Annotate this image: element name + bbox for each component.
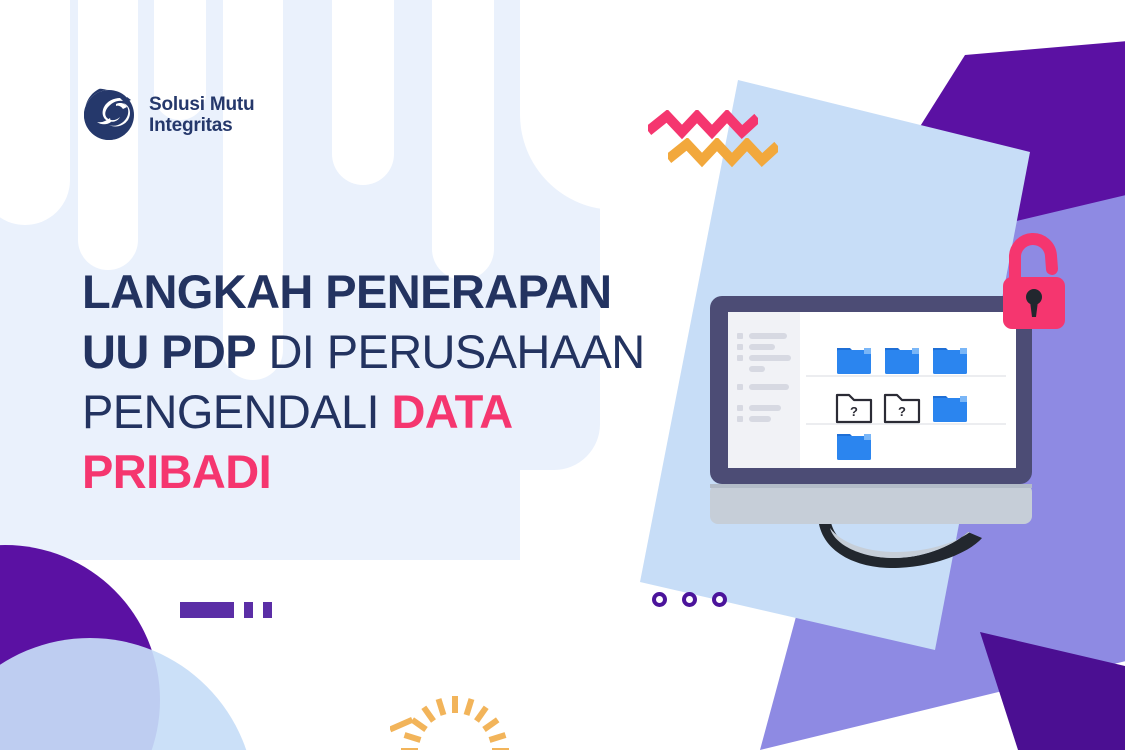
folder-unknown-icon[interactable]: ? xyxy=(837,395,871,422)
dot-ring-icon xyxy=(712,592,727,607)
drip-pill-3 xyxy=(332,0,394,185)
folder-icon[interactable] xyxy=(837,434,871,460)
headline-line-2-light: DI PERUSAHAAN xyxy=(256,325,645,378)
dot-ring-icon xyxy=(682,592,697,607)
folder-icon[interactable] xyxy=(933,396,967,422)
headline-line-3: PENGENDALI DATA xyxy=(82,382,722,442)
headline-line-3-pink: DATA xyxy=(391,385,512,438)
monitor-base xyxy=(710,484,1032,524)
drip-pill-4 xyxy=(432,0,494,280)
folder-icon[interactable] xyxy=(885,348,919,374)
folder-icon[interactable] xyxy=(933,348,967,374)
dot-ring-icon xyxy=(652,592,667,607)
brand-name: Solusi Mutu Integritas xyxy=(149,94,254,137)
open-padlock-icon xyxy=(995,225,1073,335)
headline-line-1: LANGKAH PENERAPAN xyxy=(82,262,722,322)
solusi-mutu-logo-icon xyxy=(82,88,136,142)
dash-decoration xyxy=(180,602,272,618)
folder-unknown-icon[interactable]: ? xyxy=(885,395,919,422)
sunburst-decoration xyxy=(390,686,520,750)
dash-small xyxy=(244,602,253,618)
brand-name-line-1: Solusi Mutu xyxy=(149,94,254,115)
headline-line-4: PRIBADI xyxy=(82,442,722,502)
poster-canvas: ? ? xyxy=(0,0,1125,750)
svg-text:?: ? xyxy=(850,404,858,419)
headline-line-4-pink: PRIBADI xyxy=(82,445,271,498)
monitor-base-edge xyxy=(710,484,1032,488)
brand-logo[interactable]: Solusi Mutu Integritas xyxy=(82,88,254,142)
svg-text:?: ? xyxy=(898,404,906,419)
brand-name-line-2: Integritas xyxy=(149,115,254,136)
page-title: LANGKAH PENERAPAN UU PDP DI PERUSAHAAN P… xyxy=(82,262,722,502)
three-dots-decoration xyxy=(652,592,727,607)
headline-line-2-bold: UU PDP xyxy=(82,325,256,378)
dash-small xyxy=(263,602,272,618)
headline-line-3-light: PENGENDALI xyxy=(82,385,391,438)
blue-circle-decoration xyxy=(0,638,255,750)
dash-long xyxy=(180,602,234,618)
zigzag-amber-icon xyxy=(668,138,778,172)
headline-line-1-bold: LANGKAH PENERAPAN xyxy=(82,265,611,318)
folder-icon[interactable] xyxy=(837,348,871,374)
drip-pill-5 xyxy=(0,0,70,225)
headline-line-2: UU PDP DI PERUSAHAAN xyxy=(82,322,722,382)
